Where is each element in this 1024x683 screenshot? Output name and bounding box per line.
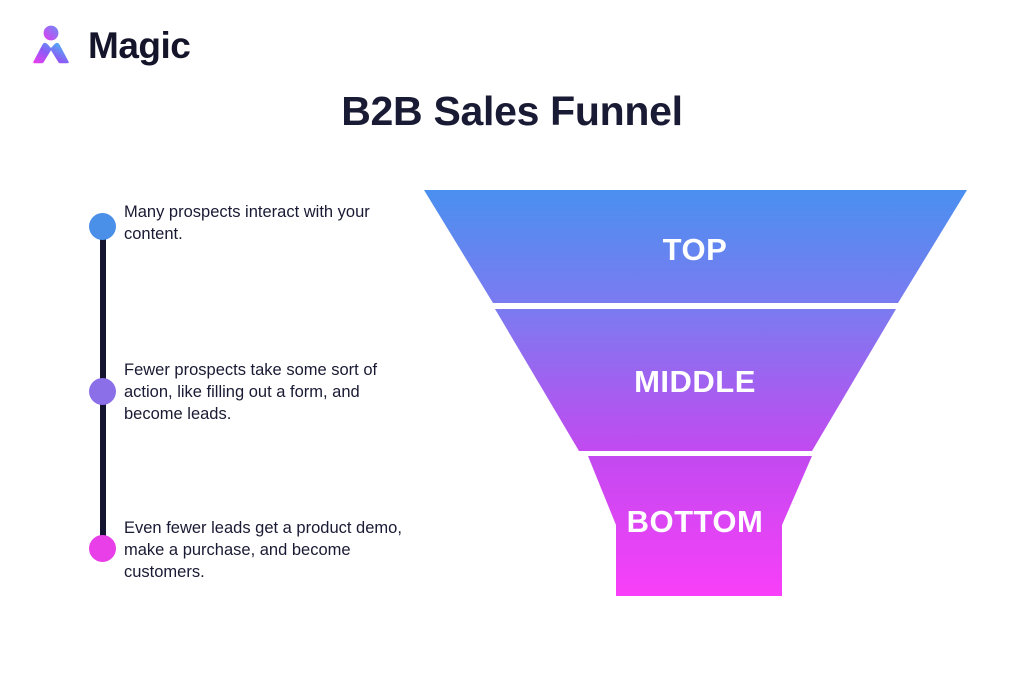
funnel-stage-top: TOP: [424, 190, 967, 303]
magic-m-logo-icon: [28, 22, 74, 68]
funnel-stage-bottom: BOTTOM: [588, 456, 812, 596]
brand-name: Magic: [88, 27, 190, 64]
funnel-stage-middle-label: MIDDLE: [634, 364, 756, 399]
timeline-step-top-text: Many prospects interact with your conten…: [124, 202, 414, 246]
timeline-dot-bottom: [89, 535, 116, 562]
timeline-step-bottom-text: Even fewer leads get a product demo, mak…: [124, 518, 414, 583]
brand-logo: Magic: [28, 22, 190, 68]
funnel-stage-bottom-label: BOTTOM: [627, 504, 764, 539]
page-title: B2B Sales Funnel: [0, 88, 1024, 135]
funnel-svg: TOP MIDDLE BOTTOM: [410, 180, 990, 610]
timeline-step-middle-text: Fewer prospects take some sort of action…: [124, 360, 414, 425]
funnel-diagram: TOP MIDDLE BOTTOM: [410, 180, 990, 610]
funnel-stage-top-label: TOP: [663, 232, 728, 267]
timeline-dot-middle: [89, 378, 116, 405]
timeline: Many prospects interact with your conten…: [86, 200, 416, 570]
timeline-dot-top: [89, 213, 116, 240]
funnel-stage-middle: MIDDLE: [495, 309, 896, 451]
